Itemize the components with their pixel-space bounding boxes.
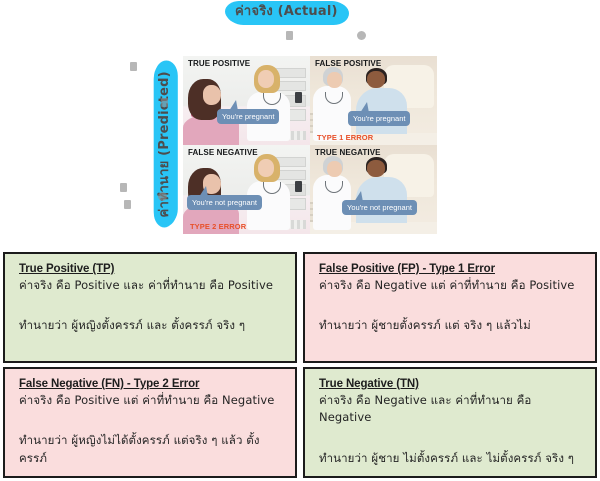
speech-bubble: You're pregnant	[348, 111, 410, 126]
matrix-cell-true-negative: TRUE NEGATIVE You're not pregnant	[310, 145, 437, 234]
info-definition: ค่าจริง คือ Positive และ ค่าที่ทำนาย คือ…	[19, 277, 283, 294]
definitions-grid: True Positive (TP) ค่าจริง คือ Positive …	[3, 252, 597, 478]
selection-handle-icon[interactable]	[357, 31, 366, 40]
ward-scene-image	[310, 56, 437, 145]
info-definition: ค่าจริง คือ Negative แต่ ค่าที่ทำนาย คือ…	[319, 277, 583, 294]
selection-handle-icon[interactable]	[124, 200, 131, 209]
info-example: ทำนายว่า ผู้ชายตั้งครรภ์ แต่ จริง ๆ แล้ว…	[319, 317, 583, 334]
info-example: ทำนายว่า ผู้ชาย ไม่ตั้งครรภ์ และ ไม่ตั้ง…	[319, 450, 583, 467]
info-example: ทำนายว่า ผู้หญิงไม่ได้ตั้งครรภ์ แต่จริง …	[19, 432, 283, 467]
selection-handle-icon[interactable]	[161, 98, 168, 107]
info-definition: ค่าจริง คือ Positive แต่ ค่าที่ทำนาย คือ…	[19, 392, 283, 409]
error-tag: TYPE 2 ERROR	[190, 222, 246, 231]
info-title: False Positive (FP) - Type 1 Error	[319, 263, 583, 275]
confusion-matrix-infographic: ค่าจริง (Actual) ค่าทำนาย (Predicted)	[0, 0, 600, 481]
info-box-false-negative: False Negative (FN) - Type 2 Error ค่าจร…	[3, 367, 297, 478]
speech-bubble: You're not pregnant	[342, 200, 417, 215]
cell-title: FALSE NEGATIVE	[188, 148, 258, 157]
selection-handle-icon[interactable]	[120, 183, 127, 192]
error-tag: TYPE 1 ERROR	[317, 133, 373, 142]
selection-handle-icon[interactable]	[286, 31, 293, 40]
cell-title: TRUE POSITIVE	[188, 59, 250, 68]
cell-title: TRUE NEGATIVE	[315, 148, 381, 157]
speech-bubble: You're pregnant	[217, 109, 279, 124]
info-title: True Positive (TP)	[19, 263, 283, 275]
info-box-false-positive: False Positive (FP) - Type 1 Error ค่าจร…	[303, 252, 597, 363]
ward-scene-image	[310, 145, 437, 234]
info-box-true-positive: True Positive (TP) ค่าจริง คือ Positive …	[3, 252, 297, 363]
info-box-true-negative: True Negative (TN) ค่าจริง คือ Negative …	[303, 367, 597, 478]
selection-handle-icon[interactable]	[158, 192, 167, 201]
photo-matrix: TRUE POSITIVE You're pregnant FALSE POSI…	[178, 50, 442, 240]
predicted-axis-label: ค่าทำนาย (Predicted)	[156, 64, 175, 224]
info-title: False Negative (FN) - Type 2 Error	[19, 378, 283, 390]
actual-axis-label: ค่าจริง (Actual)	[228, 3, 345, 22]
matrix-cell-true-positive: TRUE POSITIVE You're pregnant	[183, 56, 310, 145]
selection-handle-icon[interactable]	[130, 62, 137, 71]
info-definition: ค่าจริง คือ Negative และ ค่าที่ทำนาย คือ…	[319, 392, 583, 427]
matrix-cell-false-positive: FALSE POSITIVE You're pregnant TYPE 1 ER…	[310, 56, 437, 145]
info-title: True Negative (TN)	[319, 378, 583, 390]
cell-title: FALSE POSITIVE	[315, 59, 381, 68]
speech-bubble: You're not pregnant	[187, 195, 262, 210]
clinic-scene-image	[183, 56, 310, 145]
matrix-cell-false-negative: FALSE NEGATIVE You're not pregnant TYPE …	[183, 145, 310, 234]
info-example: ทำนายว่า ผู้หญิงตั้งครรภ์ และ ตั้งครรภ์ …	[19, 317, 283, 334]
